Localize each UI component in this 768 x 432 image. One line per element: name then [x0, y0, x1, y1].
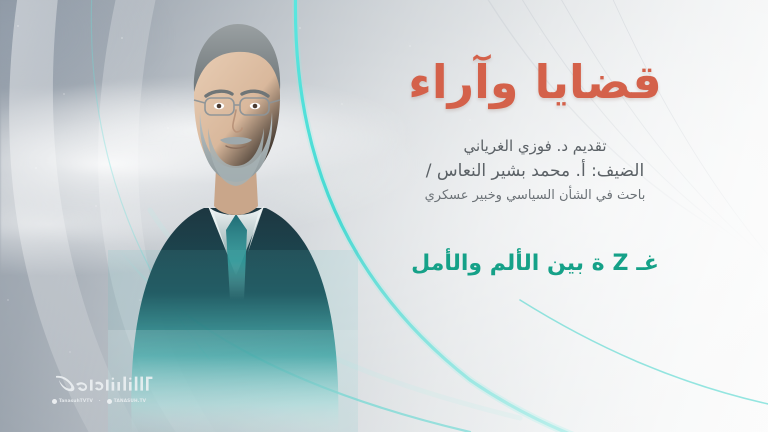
credits-block: تقديم د. فوزي الغرياني الضيف: أ. محمد بش…: [370, 136, 700, 205]
channel-social-handles: TanasuhTVTV · TANASUH.TV: [44, 399, 154, 404]
social-handle-website[interactable]: TANASUH.TV: [107, 399, 146, 404]
handle-separator: ·: [99, 399, 101, 404]
episode-topic: غـ Z ة بين الألم والأمل: [370, 251, 700, 276]
channel-logo: TanasuhTVTV · TANASUH.TV: [44, 370, 154, 404]
presenter-line: تقديم د. فوزي الغرياني: [370, 136, 700, 158]
social-handle-facebook-label: TanasuhTVTV: [59, 399, 93, 404]
guest-portrait-illustration: [108, 0, 358, 432]
broadcast-lower-third-fullscreen: قضايا وآراء تقديم د. فوزي الغرياني الضيف…: [0, 0, 768, 432]
social-handle-website-label: TANASUH.TV: [114, 399, 146, 404]
channel-logo-wordmark-icon: [54, 370, 154, 396]
facebook-icon: [52, 399, 57, 404]
social-handle-facebook[interactable]: TanasuhTVTV: [52, 399, 93, 404]
program-title: قضايا وآراء: [370, 54, 700, 110]
guest-role-line: باحث في الشأن السياسي وخبير عسكري: [370, 187, 700, 206]
guest-line: الضيف: أ. محمد بشير النعاس /: [370, 159, 700, 184]
program-text-block: قضايا وآراء تقديم د. فوزي الغرياني الضيف…: [370, 54, 700, 276]
guest-portrait: [108, 0, 358, 432]
globe-icon: [107, 399, 112, 404]
